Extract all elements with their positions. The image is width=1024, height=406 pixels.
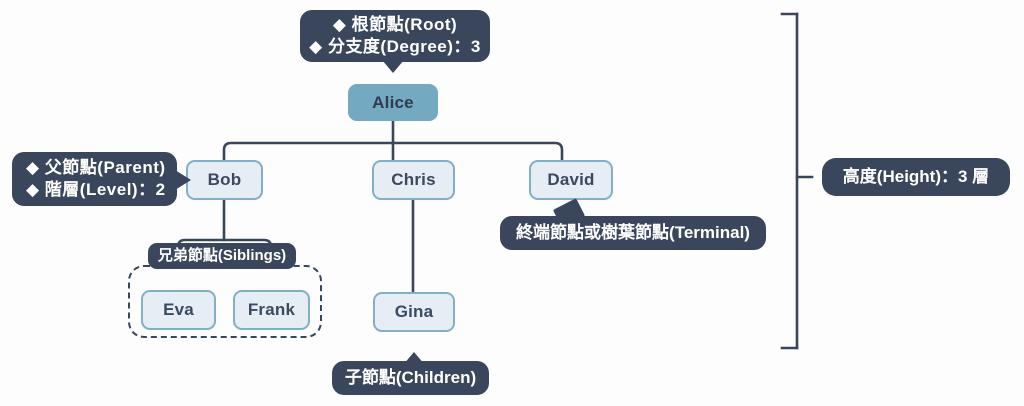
node-eva[interactable]: Eva <box>141 290 216 330</box>
node-david-label: David <box>547 170 594 190</box>
node-alice[interactable]: Alice <box>348 84 438 121</box>
callout-siblings-label: 兄弟節點(Siblings) <box>158 246 286 266</box>
callout-children-label: 子節點(Children) <box>345 367 476 389</box>
callout-height-label: 高度(Height)：3 層 <box>843 166 989 188</box>
node-bob-label: Bob <box>208 170 242 190</box>
callout-terminal: 終端節點或樹葉節點(Terminal) <box>500 216 766 250</box>
node-david[interactable]: David <box>529 160 613 200</box>
node-frank[interactable]: Frank <box>233 290 310 330</box>
callout-parent-line2: ◆ 階層(Level)：2 <box>26 179 163 201</box>
callout-root-line2: ◆ 分支度(Degree)：3 <box>309 36 481 58</box>
callout-root: ◆ 根節點(Root) ◆ 分支度(Degree)：3 <box>300 10 490 62</box>
callout-root-line1: ◆ 根節點(Root) <box>333 14 457 36</box>
node-chris[interactable]: Chris <box>372 160 455 200</box>
callout-children: 子節點(Children) <box>332 361 489 395</box>
node-bob[interactable]: Bob <box>186 160 263 200</box>
callout-height: 高度(Height)：3 層 <box>822 158 1010 196</box>
callout-root-pointer <box>382 60 404 73</box>
node-alice-label: Alice <box>372 93 414 113</box>
node-frank-label: Frank <box>248 300 295 320</box>
callout-parent-pointer <box>175 170 191 190</box>
callout-parent: ◆ 父節點(Parent) ◆ 階層(Level)：2 <box>12 152 177 206</box>
height-bracket <box>782 14 812 348</box>
node-eva-label: Eva <box>163 300 194 320</box>
tree-diagram-canvas: ◆ 根節點(Root) ◆ 分支度(Degree)：3 Alice Bob Ch… <box>0 0 1024 406</box>
node-gina[interactable]: Gina <box>373 292 455 332</box>
callout-terminal-label: 終端節點或樹葉節點(Terminal) <box>516 222 750 244</box>
callout-parent-line1: ◆ 父節點(Parent) <box>26 157 163 179</box>
callout-siblings: 兄弟節點(Siblings) <box>148 243 296 269</box>
node-gina-label: Gina <box>395 302 434 322</box>
node-chris-label: Chris <box>391 170 435 190</box>
